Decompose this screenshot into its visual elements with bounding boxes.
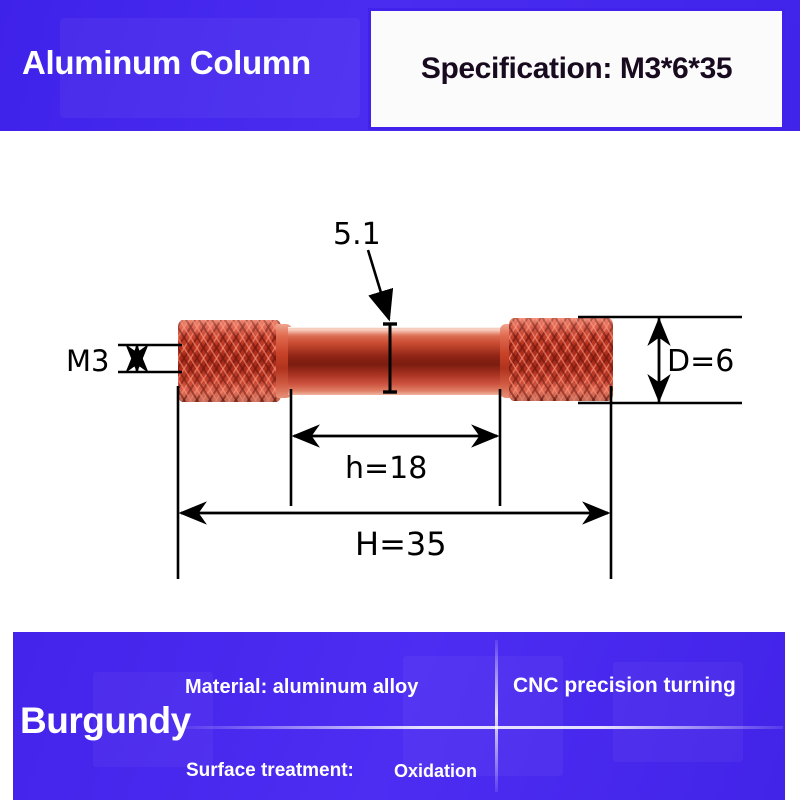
page-title: Aluminum Column	[22, 44, 311, 82]
material-label: Material: aluminum alloy	[185, 676, 418, 699]
technical-drawing: M3 5.1 D=6 h=18 H=35	[0, 131, 800, 621]
dimension-label-total-length: H=35	[355, 525, 447, 563]
process-label: CNC precision turning	[513, 674, 736, 698]
color-name-label: Burgundy	[20, 700, 191, 742]
surface-treatment-label: Surface treatment:	[186, 760, 354, 782]
footer-divider-vertical	[495, 640, 498, 792]
dimension-label-shaft-length: h=18	[345, 451, 427, 486]
dimension-label-head-diameter: D=6	[667, 344, 734, 379]
dimension-overlay: M3 5.1 D=6 h=18 H=35	[0, 131, 800, 621]
specification-label: Specification: M3*6*35	[371, 11, 782, 127]
specification-box: Specification: M3*6*35	[368, 8, 785, 130]
footer-divider-horizontal	[183, 726, 783, 729]
dimension-label-thread: M3	[66, 344, 109, 378]
dimension-label-shaft-diameter: 5.1	[333, 217, 381, 252]
surface-treatment-value: Oxidation	[394, 761, 477, 782]
